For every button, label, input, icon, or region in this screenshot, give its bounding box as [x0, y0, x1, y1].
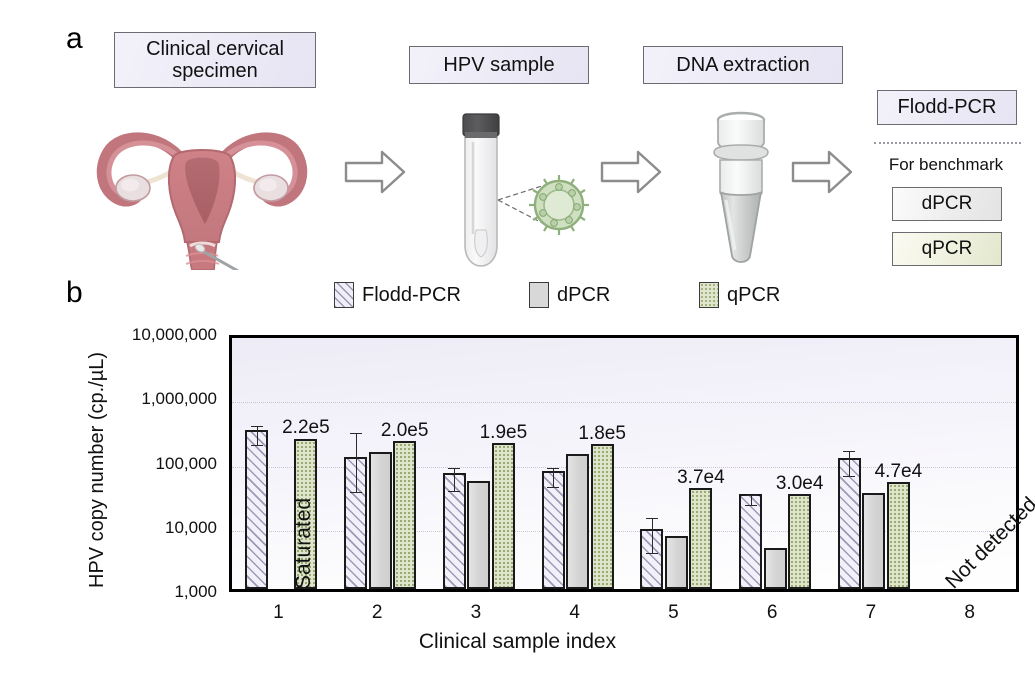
x-tick-label-6: 6: [742, 602, 802, 624]
flow-arrow-3-icon: [791, 148, 853, 201]
x-axis-tick-labels: 12345678: [0, 268, 1035, 682]
flow-arrow-2-icon: [600, 148, 662, 201]
output-box-flodd-pcr: Flodd-PCR: [877, 90, 1017, 125]
output-box-qpcr: qPCR: [892, 232, 1002, 266]
workflow-step-label-dna-extraction: DNA extraction: [643, 46, 843, 84]
x-axis-title: Clinical sample index: [0, 630, 1035, 654]
output-box-dpcr: dPCR: [892, 187, 1002, 221]
hpv-copy-number-chart: Flodd-PCR dPCR qPCR HPV copy number (cp.…: [0, 268, 1035, 682]
workflow-step-label-specimen: Clinical cervical specimen: [114, 32, 316, 88]
x-tick-label-3: 3: [446, 602, 506, 624]
x-tick-label-8: 8: [940, 602, 1000, 624]
flow-arrow-1-icon: [344, 148, 406, 201]
x-tick-label-1: 1: [248, 602, 308, 624]
x-tick-label-5: 5: [643, 602, 703, 624]
x-tick-label-7: 7: [841, 602, 901, 624]
benchmark-divider: [874, 142, 1021, 144]
benchmark-note: For benchmark: [876, 155, 1016, 175]
swab-tube-illustration: [432, 102, 590, 270]
workflow-step-label-hpv-sample: HPV sample: [409, 46, 589, 84]
uterus-illustration: [86, 108, 318, 270]
x-tick-label-2: 2: [347, 602, 407, 624]
microcentrifuge-tube-illustration: [700, 104, 782, 270]
panel-a-letter: a: [66, 22, 83, 56]
x-tick-label-4: 4: [545, 602, 605, 624]
